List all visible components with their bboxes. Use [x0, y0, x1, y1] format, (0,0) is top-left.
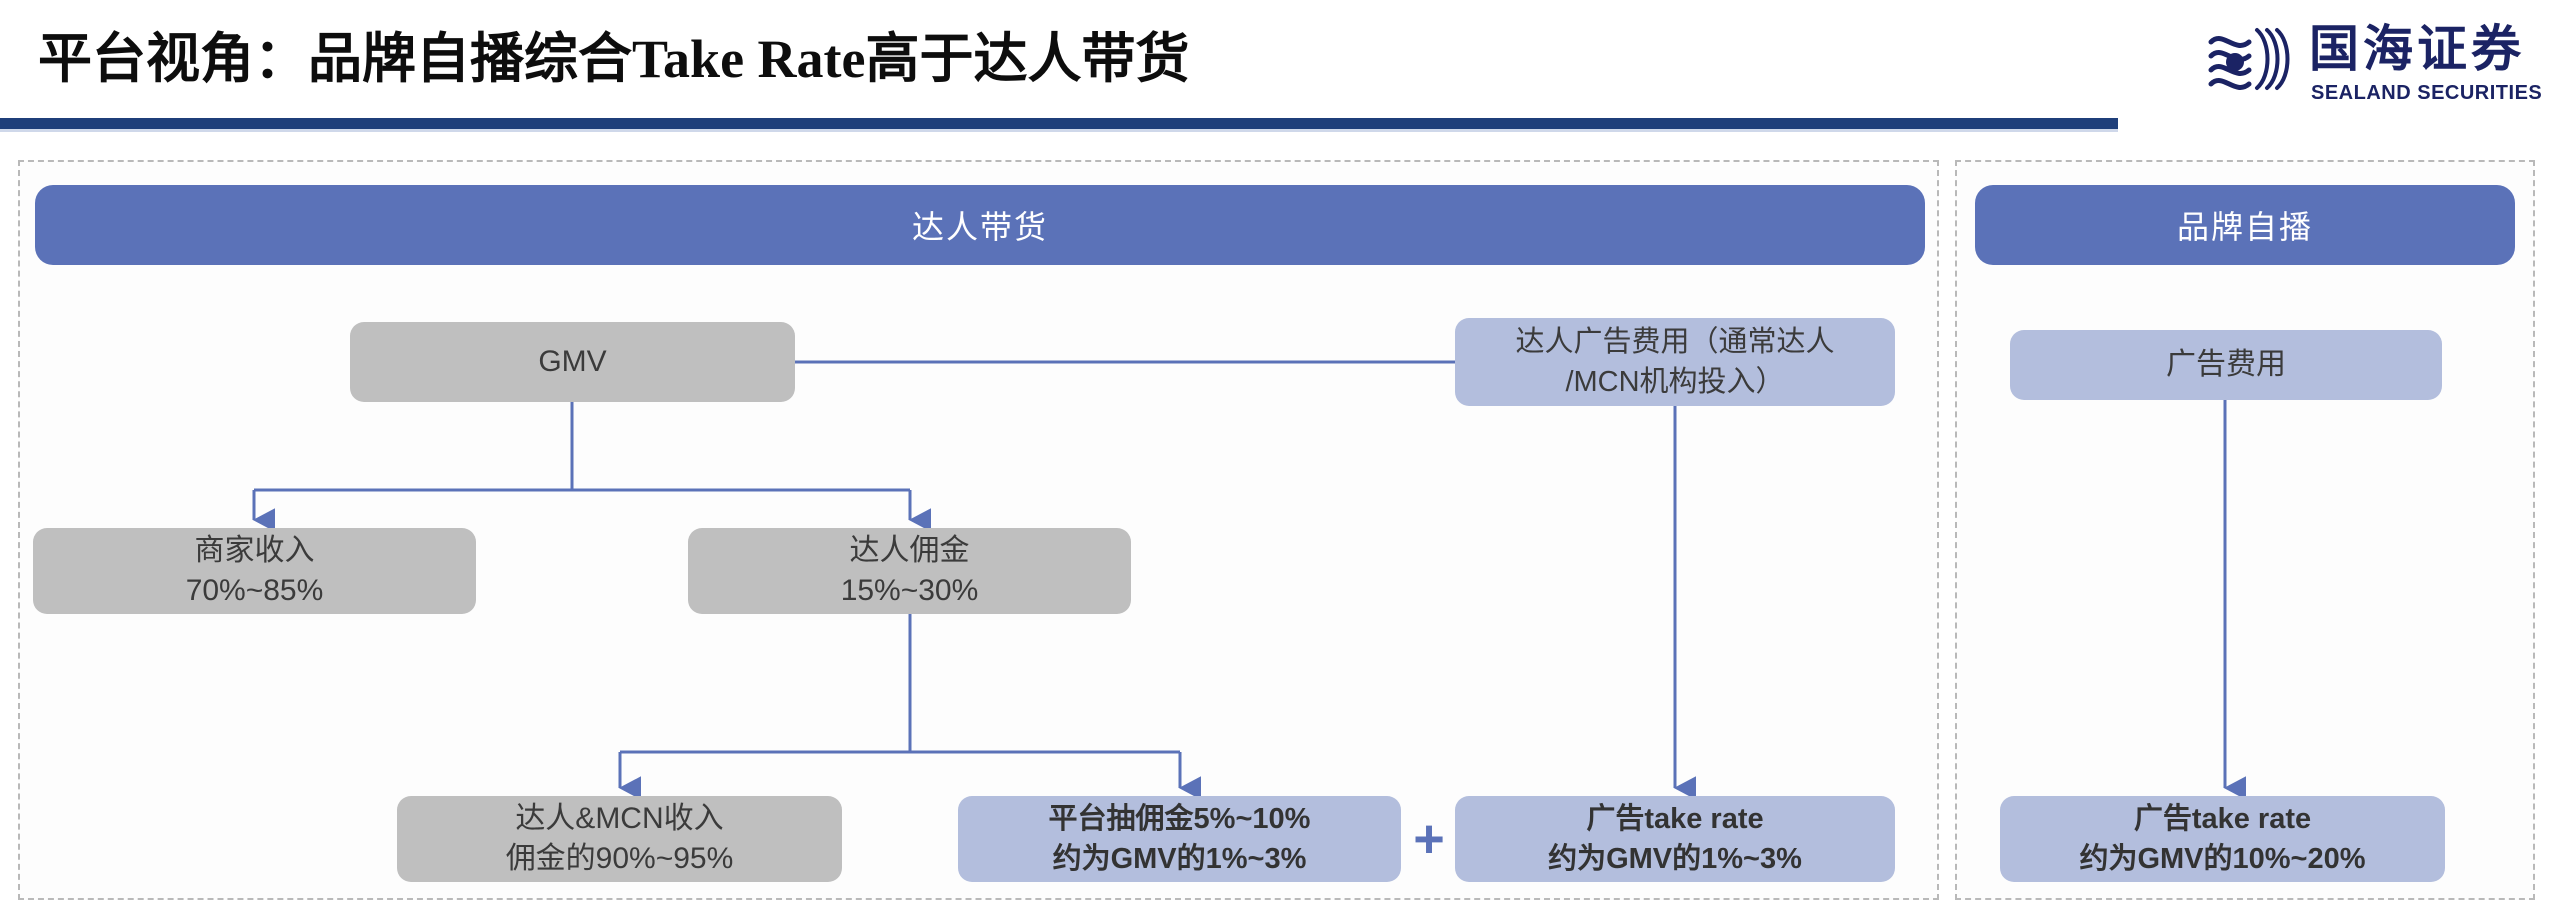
sealand-wave-logo-icon [2205, 22, 2295, 96]
logo-company-name-en: SEALAND SECURITIES [2311, 82, 2542, 105]
node-daren-mcn-revenue[interactable]: 达人&MCN收入 佣金的90%~95% [397, 796, 842, 882]
panel-brand-selfbroadcast [1955, 160, 2535, 900]
node-ad-cost[interactable]: 广告费用 [2010, 330, 2442, 400]
plus-icon: + [1408, 813, 1450, 865]
node-daren-commission[interactable]: 达人佣金 15%~30% [688, 528, 1131, 614]
page-header: 平台视角：品牌自播综合Take Rate高于达人带货 国海证券 SEAL [0, 0, 2550, 135]
title-rule [0, 118, 2118, 129]
node-daren-ad-fee[interactable]: 达人广告费用（通常达人 /MCN机构投入） [1455, 318, 1895, 406]
title-rule-highlight [0, 129, 2118, 132]
node-platform-commission[interactable]: 平台抽佣金5%~10% 约为GMV的1%~3% [958, 796, 1401, 882]
node-merchant-revenue[interactable]: 商家收入 70%~85% [33, 528, 476, 614]
page-title: 平台视角：品牌自播综合Take Rate高于达人带货 [38, 14, 1190, 93]
logo-company-name-cn: 国海证券 [2309, 22, 2525, 76]
company-logo: 国海证券 SEALAND SECURITIES [2205, 18, 2535, 104]
node-ad-take-rate-daren[interactable]: 广告take rate 约为GMV的1%~3% [1455, 796, 1895, 882]
node-gmv[interactable]: GMV [350, 322, 795, 402]
node-ad-take-rate-brand[interactable]: 广告take rate 约为GMV的10%~20% [2000, 796, 2445, 882]
section-header-brand-selfbroadcast: 品牌自播 [1975, 185, 2515, 265]
section-header-daren-daihuo: 达人带货 [35, 185, 1925, 265]
